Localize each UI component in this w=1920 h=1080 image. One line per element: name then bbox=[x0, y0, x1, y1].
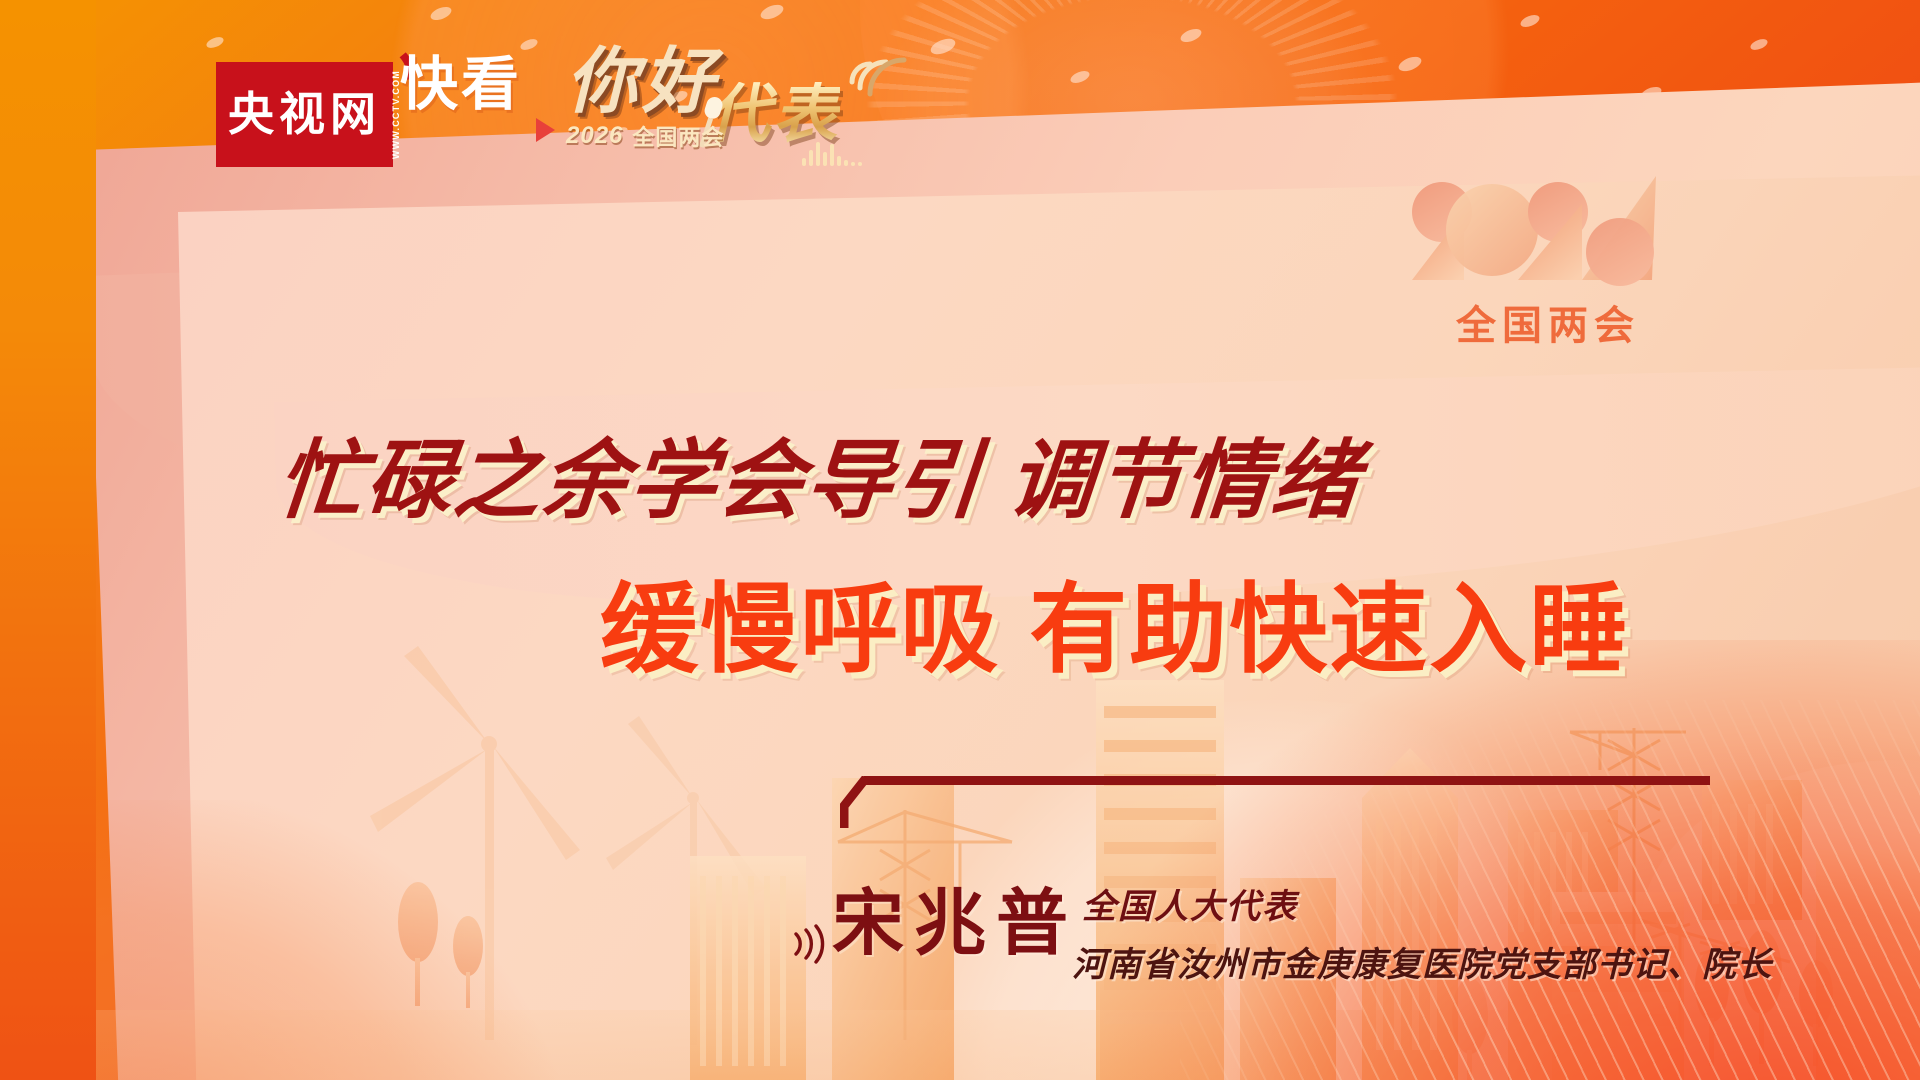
headline-line-2: 缓慢呼吸 有助快速入睡 bbox=[600, 580, 1629, 678]
speaker-role: 全国人大代表 bbox=[1082, 890, 1298, 924]
speaker-organization: 河南省汝州市金庚康复医院党支部书记、院长 bbox=[1072, 948, 1772, 982]
headline-line-1: 忙碌之余学会导引 调节情绪 bbox=[274, 438, 1363, 524]
speaker-name: 宋兆普 bbox=[832, 888, 1078, 960]
broadcast-graphic-canvas: 央视网 WWW.CCTV.COM 快看 你好 代表 2026 全国两会 bbox=[0, 0, 1920, 1080]
speaker-sound-wave-icon bbox=[790, 918, 830, 970]
speaker-divider-bracket bbox=[840, 776, 1710, 832]
